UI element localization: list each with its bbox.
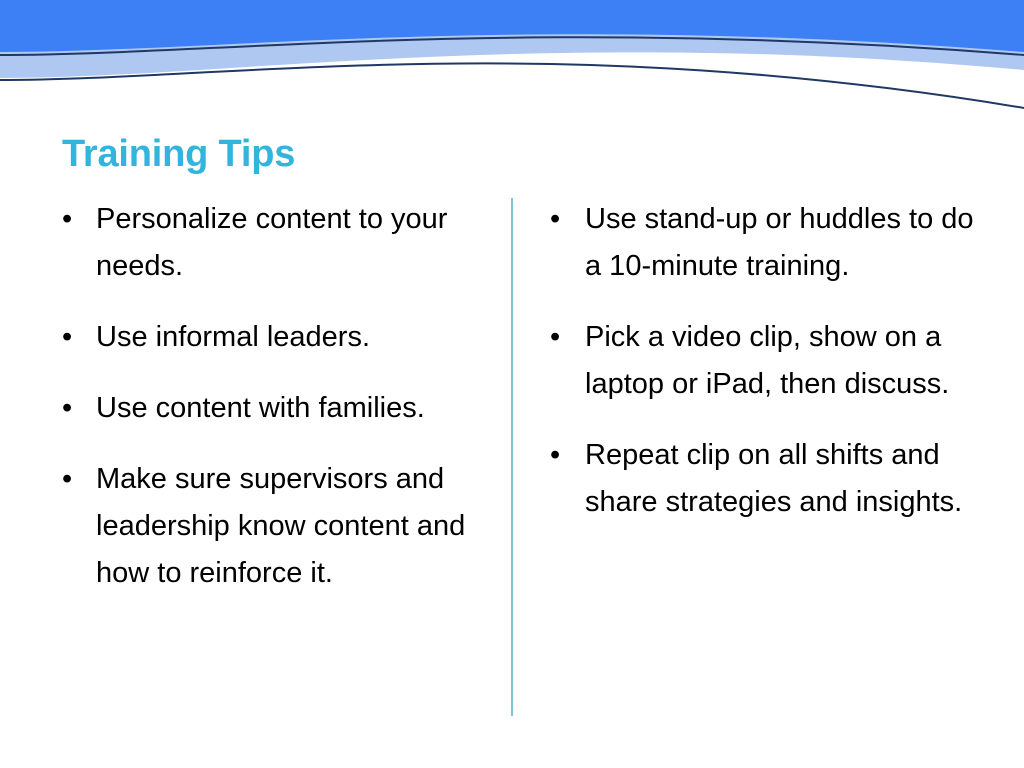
banner-blue-shape — [0, 0, 1024, 132]
list-item: • Pick a video clip, show on a laptop or… — [545, 314, 985, 408]
list-item: • Use content with families. — [58, 385, 490, 432]
list-item-text: Repeat clip on all shifts and share stra… — [585, 439, 962, 518]
list-item: • Use stand-up or huddles to do a 10-min… — [545, 196, 985, 290]
bullet-icon: • — [550, 432, 570, 479]
list-item-text: Pick a video clip, show on a laptop or i… — [585, 321, 949, 400]
banner-navy-stroke-upper — [0, 37, 1024, 55]
list-item: • Repeat clip on all shifts and share st… — [545, 432, 985, 526]
bullet-icon: • — [550, 314, 570, 361]
left-column: • Personalize content to your needs. • U… — [58, 196, 490, 597]
list-item-text: Use informal leaders. — [96, 321, 370, 353]
content-area: • Personalize content to your needs. • U… — [0, 196, 1024, 736]
bullet-icon: • — [62, 385, 82, 432]
list-item: • Personalize content to your needs. — [58, 196, 490, 290]
list-item-text: Use stand-up or huddles to do a 10-minut… — [585, 203, 974, 282]
page-title: Training Tips — [62, 131, 295, 177]
header-banner-decoration — [0, 0, 1024, 132]
bullet-icon: • — [62, 456, 82, 503]
banner-light-blue-band — [0, 34, 1024, 132]
bullet-icon: • — [62, 314, 82, 361]
right-bullet-list: • Use stand-up or huddles to do a 10-min… — [545, 196, 985, 526]
banner-navy-stroke-lower — [0, 63, 1024, 108]
column-divider — [511, 198, 513, 716]
list-item-text: Use content with families. — [96, 392, 425, 424]
slide-canvas: Training Tips • Personalize content to y… — [0, 0, 1024, 768]
left-bullet-list: • Personalize content to your needs. • U… — [58, 196, 490, 597]
list-item: • Use informal leaders. — [58, 314, 490, 361]
list-item-text: Personalize content to your needs. — [96, 203, 447, 282]
list-item: • Make sure supervisors and leadership k… — [58, 456, 490, 597]
list-item-text: Make sure supervisors and leadership kno… — [96, 463, 465, 589]
bullet-icon: • — [550, 196, 570, 243]
banner-white-arc — [0, 52, 1024, 132]
bullet-icon: • — [62, 196, 82, 243]
right-column: • Use stand-up or huddles to do a 10-min… — [545, 196, 985, 526]
